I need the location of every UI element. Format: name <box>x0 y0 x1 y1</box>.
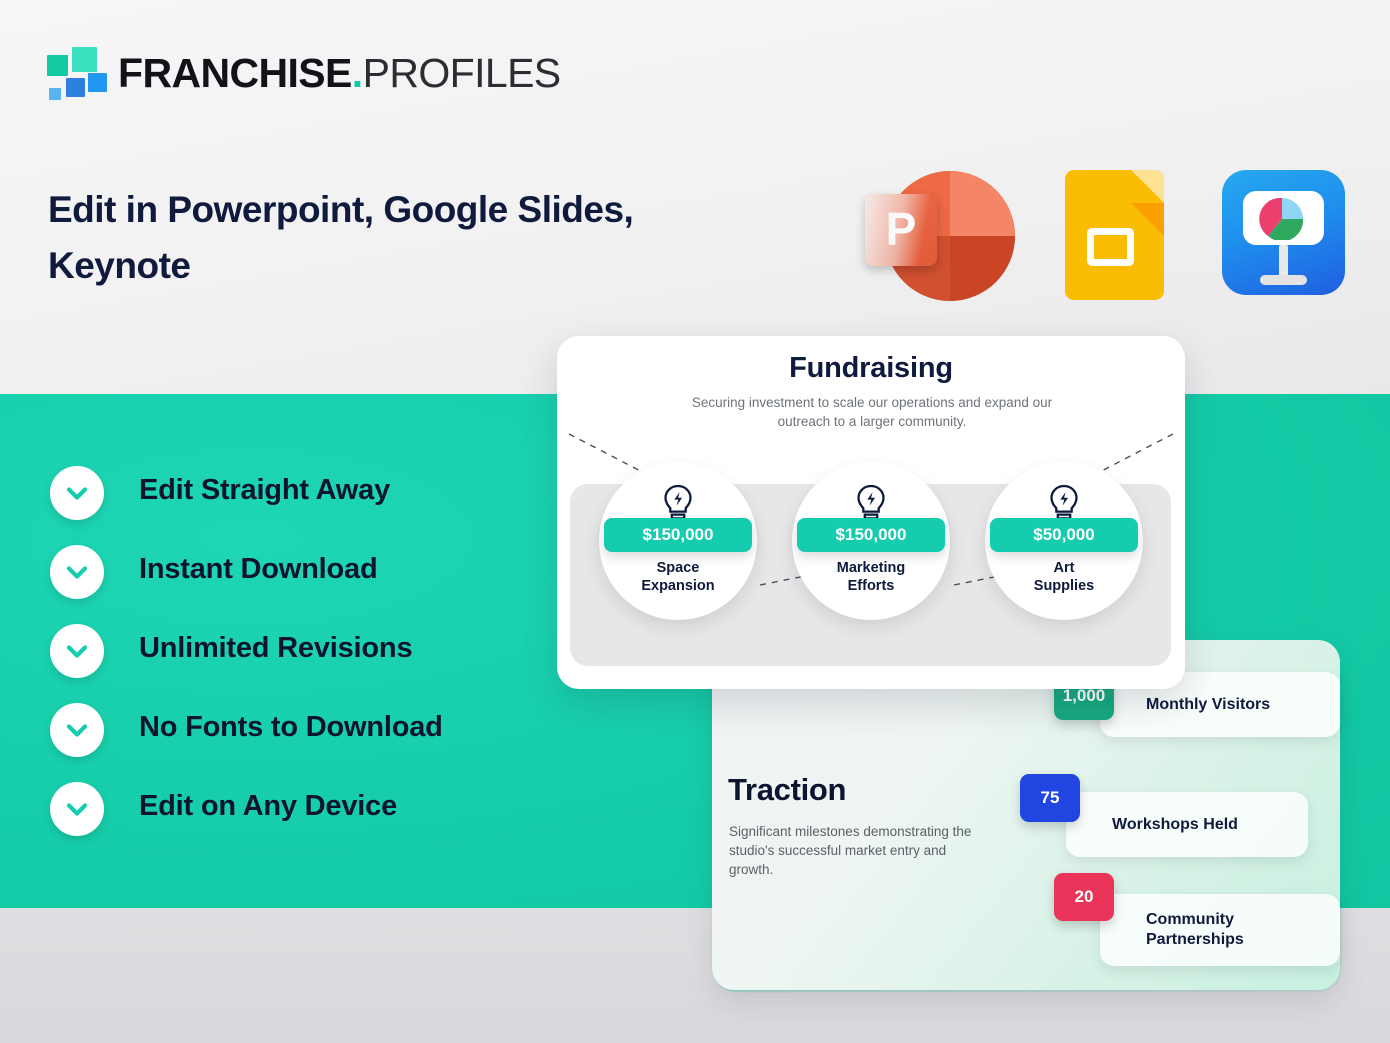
chevron-down-icon <box>50 782 104 836</box>
brand-logo[interactable]: FRANCHISE.PROFILES <box>47 44 537 102</box>
metric-value-badge: 20 <box>1054 873 1114 921</box>
feature-label: No Fonts to Download <box>139 711 443 744</box>
powerpoint-pie-slice-tr <box>950 171 1015 236</box>
five-squares-mark-icon <box>47 47 109 99</box>
powerpoint-tile-gloss <box>865 194 937 266</box>
metric-value: 75 <box>1041 788 1060 808</box>
metric-pill: Workshops Held <box>1066 792 1308 857</box>
metric-pill: Community Partnerships <box>1100 894 1340 966</box>
chevron-down-icon <box>50 545 104 599</box>
brand-name-dot: . <box>352 50 363 96</box>
metric-value: 1,000 <box>1063 686 1106 706</box>
page-title: Edit in Powerpoint, Google Slides, Keyno… <box>48 182 748 294</box>
fundraising-node-label-line1: Art <box>1054 560 1075 576</box>
keynote-pie-chart-icon <box>1259 198 1305 240</box>
keynote-stand <box>1279 245 1288 278</box>
fundraising-node[interactable]: $50,000 Art Supplies <box>985 462 1143 620</box>
powerpoint-icon: P <box>865 170 1000 302</box>
fundraising-node-label-line2: Efforts <box>848 578 895 594</box>
google-slides-document-shape <box>1065 170 1164 300</box>
keynote-base <box>1260 275 1307 285</box>
fundraising-subtitle: Securing investment to scale our operati… <box>677 393 1067 431</box>
list-item[interactable]: Workshops Held 75 <box>1020 774 1310 839</box>
metric-label: Monthly Visitors <box>1100 695 1294 715</box>
list-item[interactable]: Instant Download <box>50 545 570 624</box>
logo-square-blue-3 <box>49 88 61 100</box>
fundraising-node-label-line1: Space <box>657 560 700 576</box>
fundraising-node-label-line2: Supplies <box>1034 578 1094 594</box>
feature-label: Edit Straight Away <box>139 474 390 507</box>
fundraising-amount: $150,000 <box>643 525 714 545</box>
list-item[interactable]: No Fonts to Download <box>50 703 570 782</box>
logo-square-teal-2 <box>72 47 97 72</box>
fundraising-title: Fundraising <box>557 352 1185 385</box>
list-item[interactable]: Edit on Any Device <box>50 782 570 861</box>
google-slides-fold-shadow <box>1131 203 1164 236</box>
lightbulb-bolt-icon <box>662 484 694 522</box>
metric-value-badge: 75 <box>1020 774 1080 822</box>
fundraising-amount: $150,000 <box>836 525 907 545</box>
logo-square-blue-2 <box>66 78 85 97</box>
keynote-app-tile <box>1222 170 1345 295</box>
chevron-down-icon <box>50 624 104 678</box>
google-slides-icon <box>1065 170 1164 300</box>
keynote-icon <box>1222 170 1345 295</box>
brand-name-bold: FRANCHISE <box>118 50 352 96</box>
list-item[interactable]: Community Partnerships 20 <box>1054 873 1344 953</box>
lightbulb-bolt-icon <box>855 484 887 522</box>
fundraising-amount: $50,000 <box>1033 525 1094 545</box>
powerpoint-pie-slice-br <box>950 236 1015 301</box>
feature-label: Instant Download <box>139 553 377 586</box>
logo-square-blue-1 <box>88 73 107 92</box>
fundraising-amount-badge: $50,000 <box>990 518 1138 552</box>
metric-label: Community Partnerships <box>1100 910 1268 950</box>
fundraising-node-label: Space Expansion <box>599 559 757 595</box>
feature-list: Edit Straight Away Instant Download Unli… <box>50 466 570 861</box>
fundraising-node[interactable]: $150,000 Marketing Efforts <box>792 462 950 620</box>
fundraising-node-label-line1: Marketing <box>837 560 906 576</box>
feature-label: Unlimited Revisions <box>139 632 412 665</box>
traction-title: Traction <box>728 772 846 808</box>
lightbulb-bolt-icon <box>1048 484 1080 522</box>
chevron-down-icon <box>50 703 104 757</box>
fundraising-node-label: Marketing Efforts <box>792 559 950 595</box>
fundraising-node-label-line2: Expansion <box>641 578 714 594</box>
fundraising-amount-badge: $150,000 <box>797 518 945 552</box>
supported-apps-icon-group: P <box>865 170 1345 305</box>
brand-wordmark: FRANCHISE.PROFILES <box>118 44 561 102</box>
fundraising-node[interactable]: $150,000 Space Expansion <box>599 462 757 620</box>
fundraising-slide-card[interactable]: Fundraising Securing investment to scale… <box>557 336 1185 689</box>
metric-label: Workshops Held <box>1066 815 1262 835</box>
chevron-down-icon <box>50 466 104 520</box>
fundraising-amount-badge: $150,000 <box>604 518 752 552</box>
traction-subtitle: Significant milestones demonstrating the… <box>729 822 984 879</box>
list-item[interactable]: Edit Straight Away <box>50 466 570 545</box>
feature-label: Edit on Any Device <box>139 790 397 823</box>
brand-name-thin: PROFILES <box>363 50 561 96</box>
logo-square-teal-1 <box>47 55 68 76</box>
google-slides-slide-outline <box>1087 228 1134 266</box>
fundraising-node-label: Art Supplies <box>985 559 1143 595</box>
metric-value: 20 <box>1075 887 1094 907</box>
list-item[interactable]: Unlimited Revisions <box>50 624 570 703</box>
